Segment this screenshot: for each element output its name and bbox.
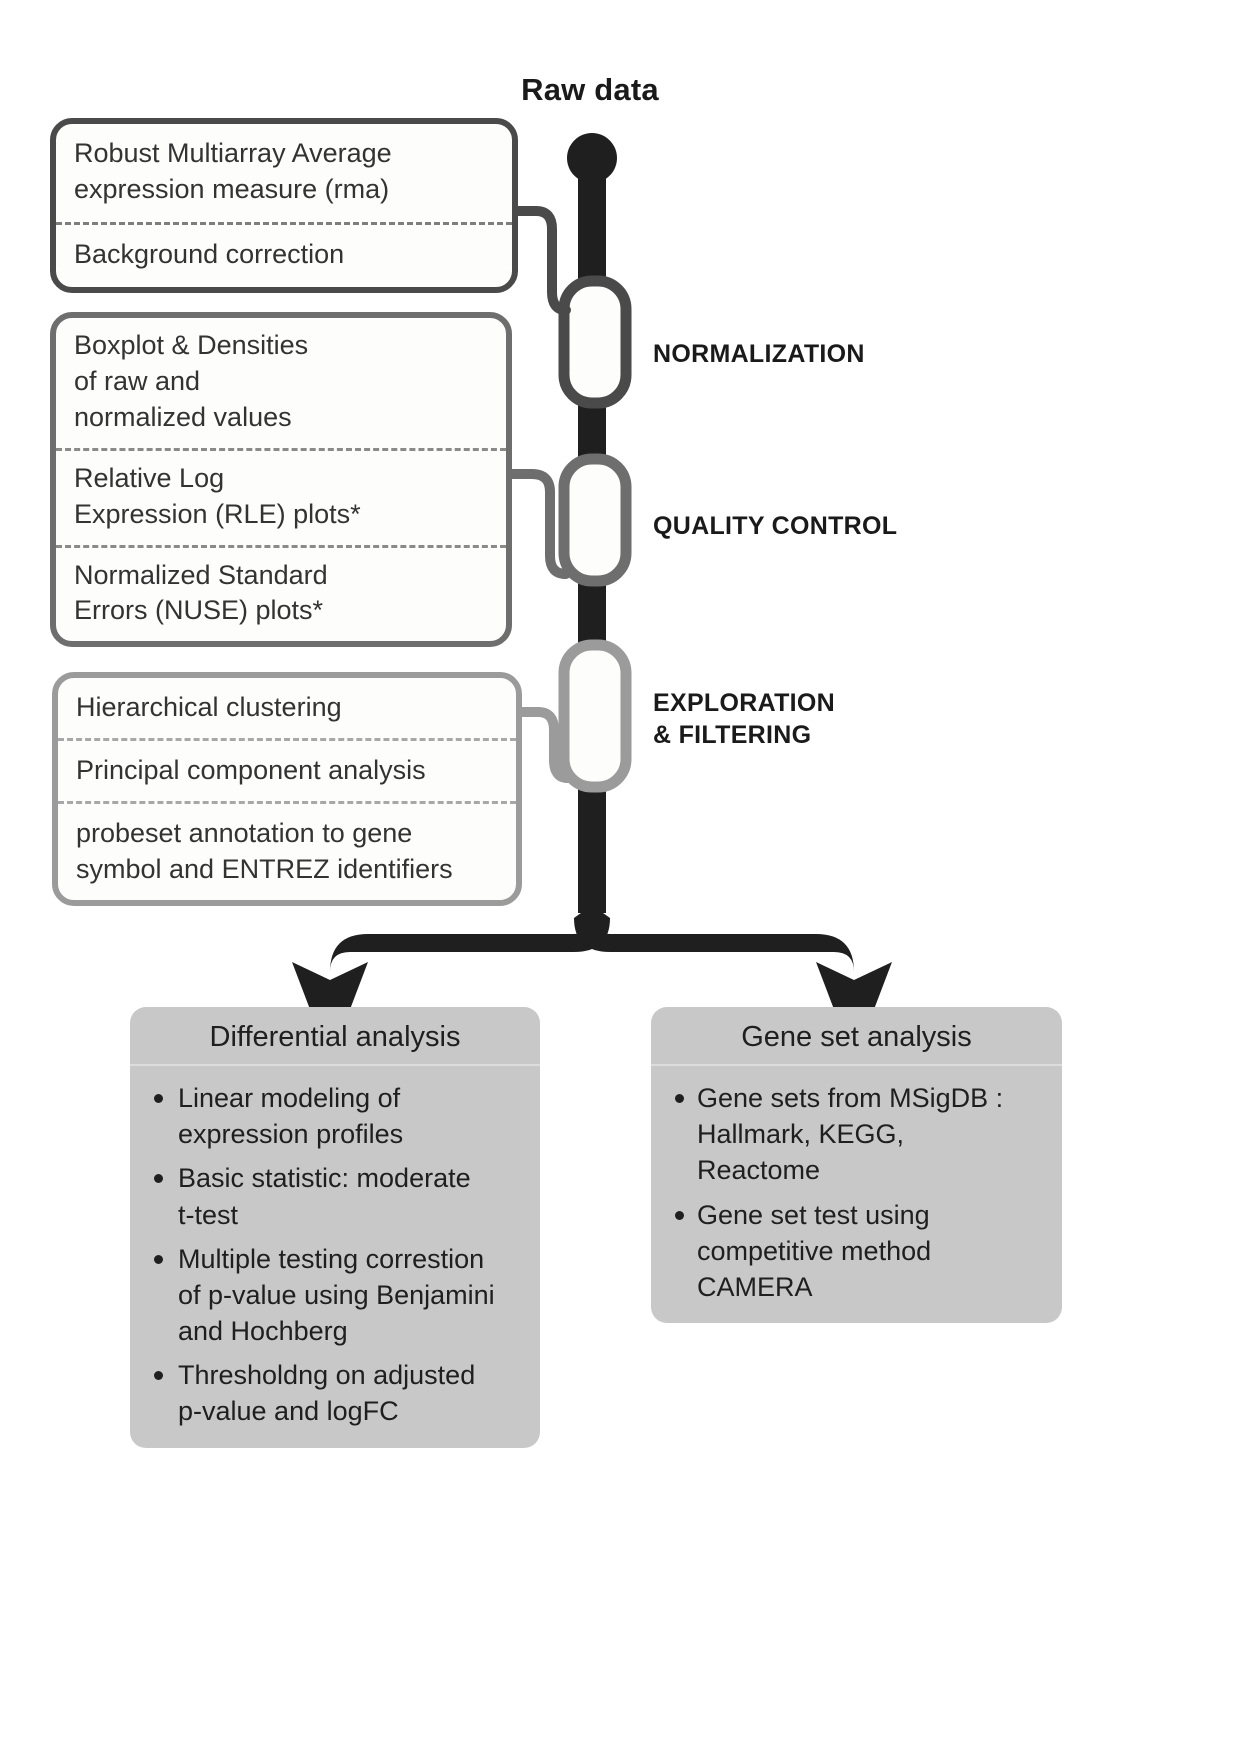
panel-gene-set-analysis[interactable]: Gene set analysis Gene sets from MSigDB … [651,1007,1062,1323]
card-item: Normalized Standard Errors (NUSE) plots* [56,545,506,642]
panel-differential-analysis[interactable]: Differential analysis Linear modeling of… [130,1007,540,1448]
list-item: Basic statistic: moderate t-test [150,1160,522,1232]
card-item: Boxplot & Densities of raw and normalize… [56,318,506,448]
stage-label-normalization: NORMALIZATION [653,338,865,370]
card-item: probeset annotation to gene symbol and E… [58,801,516,900]
list-item: Gene set test using competitive method C… [671,1197,1044,1306]
list-item: Gene sets from MSigDB : Hallmark, KEGG, … [671,1080,1044,1189]
panel-title: Differential analysis [130,1007,540,1066]
stage-card-exploration[interactable]: Hierarchical clustering Principal compon… [52,672,522,906]
card-item: Background correction [56,222,512,287]
bullet-list: Linear modeling of expression profiles B… [130,1066,540,1448]
list-item: Multiple testing correstion of p-value u… [150,1241,522,1350]
connector-quality-control [510,474,566,574]
stage-card-normalization[interactable]: Robust Multiarray Average expression mea… [50,118,518,293]
panel-title: Gene set analysis [651,1007,1062,1066]
stage-capsule-quality-control[interactable] [564,459,626,581]
connector-normalization [516,211,566,310]
spine-segment-norm-qc [578,395,606,467]
stage-capsule-normalization[interactable] [564,281,626,403]
card-item: Principal component analysis [58,738,516,801]
list-item: Linear modeling of expression profiles [150,1080,522,1152]
list-item: Thresholdng on adjusted p-value and logF… [150,1357,522,1429]
stage-card-quality-control[interactable]: Boxplot & Densities of raw and normalize… [50,312,512,647]
spine-segment-bottom [578,778,606,913]
spine-segment-top [578,150,606,300]
stage-label-exploration: EXPLORATION & FILTERING [653,687,835,751]
page-title: Raw data [460,72,720,108]
raw-data-node [567,133,617,183]
card-item: Relative Log Expression (RLE) plots* [56,448,506,545]
card-item: Hierarchical clustering [58,678,516,738]
spine-segment-qc-expl [578,578,606,650]
stage-capsule-exploration[interactable] [564,645,626,787]
bullet-list: Gene sets from MSigDB : Hallmark, KEGG, … [651,1066,1062,1323]
stage-label-quality-control: QUALITY CONTROL [653,510,897,542]
card-item: Robust Multiarray Average expression mea… [56,124,512,222]
workflow-diagram: Raw data Robust Multiarray Average expre… [0,0,1240,1753]
connector-exploration [522,712,568,778]
